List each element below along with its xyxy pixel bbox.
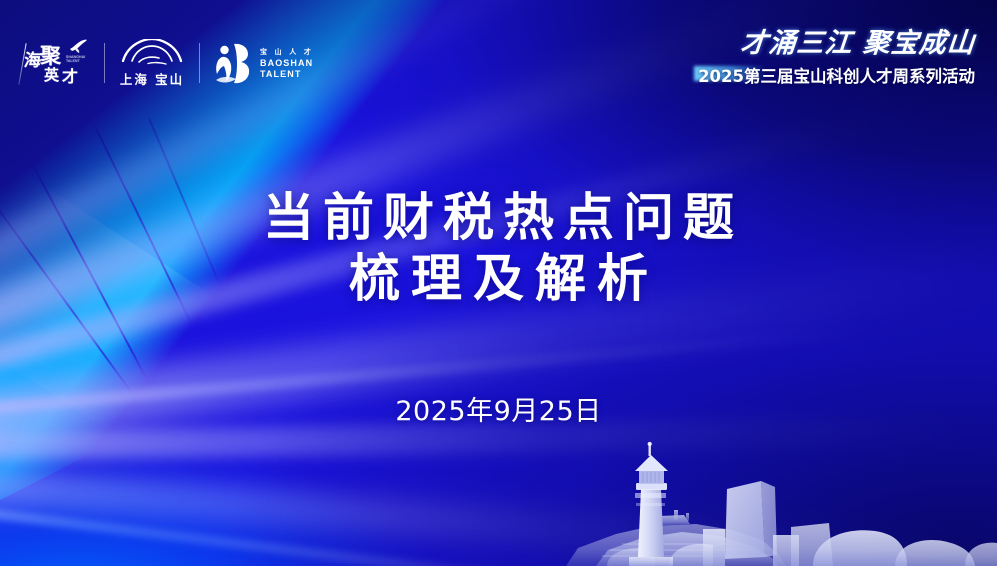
dove-icon <box>68 38 88 54</box>
main-title-line-1: 当前财税热点问题 <box>0 188 997 249</box>
logo-bar: 海 聚 英 才 SHANGHAI TALENT 上海 <box>22 34 328 92</box>
arch-bridge-icon <box>119 39 185 65</box>
logo-shanghai-baoshan: 上海 宝山 <box>105 35 199 91</box>
event-date: 2025年9月25日 <box>0 389 997 428</box>
event-subtitle: 2025第三届宝山科创人才周系列活动 <box>698 63 975 87</box>
main-title: 当前财税热点问题 梳理及解析 <box>0 188 997 310</box>
logo-baoshan-talent: 宝 山 人 才 BAOSHAN TALENT <box>200 35 328 91</box>
seal-tiny-english: SHANGHAI TALENT <box>66 55 88 64</box>
event-subtitle-wrap: 2025第三届宝山科创人才周系列活动 <box>698 63 975 87</box>
main-title-line-2: 梳理及解析 <box>0 249 997 310</box>
event-brand-block: 才涌三江 聚宝成山 2025第三届宝山科创人才周系列活动 <box>675 30 975 87</box>
talent-label-en2: TALENT <box>260 69 314 79</box>
seal-char-ju: 聚 <box>40 45 61 66</box>
talent-b-figure-icon <box>214 40 254 86</box>
lighthouse-icon <box>629 442 673 566</box>
seal-logo: 海 聚 英 才 SHANGHAI TALENT <box>22 37 90 89</box>
seal-char-ying: 英 <box>44 68 59 83</box>
seal-char-cai: 才 <box>62 69 78 85</box>
presentation-slide: 海 聚 英 才 SHANGHAI TALENT 上海 <box>0 0 997 566</box>
talent-label-cn: 宝 山 人 才 <box>260 47 314 57</box>
city-skyline-icon <box>577 431 997 566</box>
logo-shanghai-baoshan-label: 上海 宝山 <box>120 69 184 88</box>
event-calligraphy: 才涌三江 聚宝成山 <box>674 30 976 58</box>
talent-label-en1: BAOSHAN <box>260 58 314 68</box>
logo-haiju-yingcai: 海 聚 英 才 SHANGHAI TALENT <box>22 35 104 91</box>
